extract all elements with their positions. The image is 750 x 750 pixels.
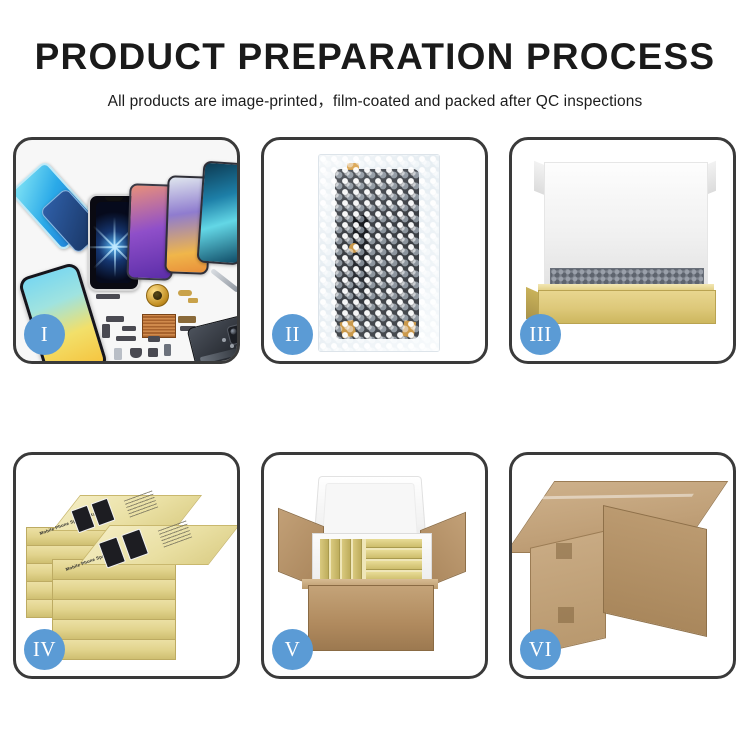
battery-strip bbox=[200, 348, 237, 361]
step-panel-1: I bbox=[13, 137, 240, 364]
step-panel-3: III bbox=[509, 137, 736, 364]
copper-grid-icon bbox=[142, 314, 176, 338]
teal-phone-icon bbox=[196, 161, 237, 266]
step-badge-1: I bbox=[24, 314, 65, 355]
step-badge-3: III bbox=[520, 314, 561, 355]
carton-front-panel bbox=[308, 585, 434, 651]
box-front-panel bbox=[538, 290, 716, 324]
camera-ring-icon bbox=[146, 284, 169, 307]
carton-tab-lower bbox=[558, 607, 574, 623]
bubble-texture-overlay bbox=[319, 155, 439, 351]
header: PRODUCT PREPARATION PROCESS All products… bbox=[0, 0, 750, 111]
step-panel-4: Mobile Phone Spare Parts Mobile Phone Sp… bbox=[13, 452, 240, 679]
bubble-wrap-bag-icon bbox=[318, 154, 440, 352]
product-preparation-infographic: PRODUCT PREPARATION PROCESS All products… bbox=[0, 0, 750, 750]
process-steps-grid: I II bbox=[13, 137, 737, 679]
page-subtitle: All products are image-printed，film-coat… bbox=[0, 89, 750, 111]
step-badge-5: V bbox=[272, 629, 313, 670]
page-title: PRODUCT PREPARATION PROCESS bbox=[0, 38, 750, 77]
spare-parts-cluster bbox=[92, 290, 237, 361]
step-badge-4: IV bbox=[24, 629, 65, 670]
carton-tab-upper bbox=[556, 543, 572, 559]
step-panel-2: II bbox=[261, 137, 488, 364]
step-panel-5: V bbox=[261, 452, 488, 679]
step-badge-2: II bbox=[272, 314, 313, 355]
step-panel-6: VI bbox=[509, 452, 736, 679]
carton-right-face bbox=[603, 505, 707, 637]
phone-notch-icon bbox=[105, 197, 123, 201]
step-badge-6: VI bbox=[520, 629, 561, 670]
camera-module-icon bbox=[226, 323, 237, 346]
packed-yellow-boxes bbox=[320, 539, 422, 583]
